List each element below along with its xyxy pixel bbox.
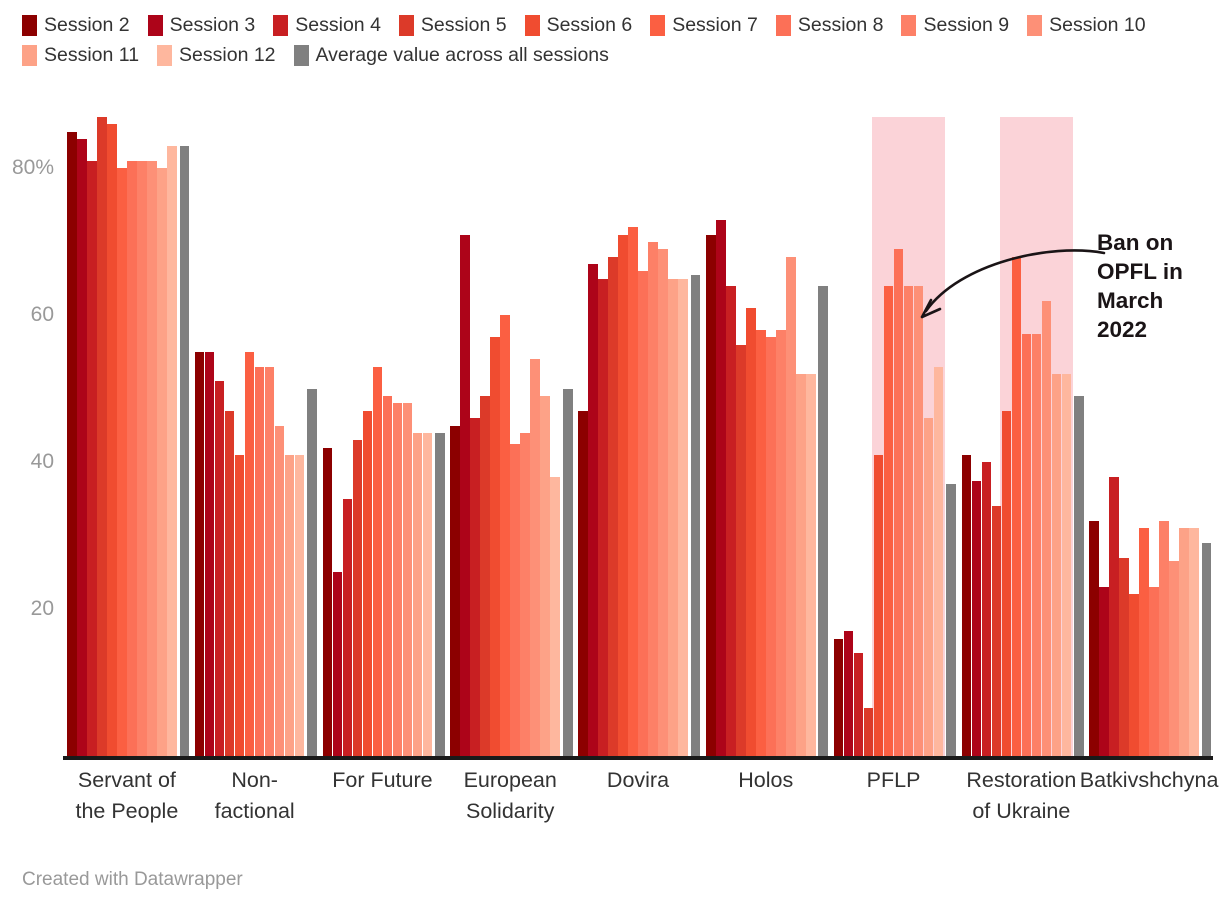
bar[interactable]: [726, 286, 736, 756]
legend-item-label: Average value across all sessions: [316, 45, 609, 66]
bar-group: [195, 95, 315, 756]
bar[interactable]: [638, 271, 648, 756]
bar-group: [1089, 95, 1209, 756]
bar[interactable]: [1099, 587, 1109, 756]
bar[interactable]: [1149, 587, 1159, 756]
legend-item[interactable]: Session 3: [148, 10, 256, 40]
bar[interactable]: [215, 381, 225, 756]
bar[interactable]: [157, 168, 167, 756]
bar[interactable]: [806, 374, 816, 756]
bar-average[interactable]: [818, 286, 828, 756]
bar[interactable]: [982, 462, 992, 756]
bar-average[interactable]: [691, 275, 701, 756]
bar[interactable]: [393, 403, 403, 756]
y-axis-tick-label: 60: [0, 303, 54, 327]
bar[interactable]: [1109, 477, 1119, 756]
legend-item[interactable]: Session 4: [273, 10, 381, 40]
bar[interactable]: [285, 455, 295, 756]
legend-item[interactable]: Session 8: [776, 10, 884, 40]
bar[interactable]: [706, 235, 716, 756]
legend-swatch-icon: [148, 15, 163, 36]
legend-swatch-icon: [399, 15, 414, 36]
bar[interactable]: [854, 653, 864, 756]
bar[interactable]: [500, 315, 510, 756]
bar[interactable]: [874, 455, 884, 756]
bar[interactable]: [550, 477, 560, 756]
legend-item[interactable]: Session 9: [901, 10, 1009, 40]
bar[interactable]: [323, 448, 333, 756]
bar-average[interactable]: [563, 389, 573, 756]
bar[interactable]: [137, 161, 147, 756]
bar[interactable]: [510, 444, 520, 756]
bar[interactable]: [450, 426, 460, 757]
bar[interactable]: [540, 396, 550, 756]
bar[interactable]: [343, 499, 353, 756]
bar[interactable]: [195, 352, 205, 756]
bar[interactable]: [1062, 374, 1072, 756]
bar[interactable]: [275, 426, 285, 757]
bar[interactable]: [373, 367, 383, 756]
x-axis-category-label: Batkivshchyna: [1071, 765, 1220, 796]
bar[interactable]: [1002, 411, 1012, 756]
bar[interactable]: [668, 279, 678, 756]
bar[interactable]: [844, 631, 854, 756]
bar[interactable]: [776, 330, 786, 756]
bar-average[interactable]: [307, 389, 317, 756]
legend-swatch-icon: [22, 15, 37, 36]
bar[interactable]: [295, 455, 305, 756]
bar[interactable]: [1159, 521, 1169, 756]
bar-group: [706, 95, 826, 756]
bar[interactable]: [884, 286, 894, 756]
bar[interactable]: [972, 481, 982, 756]
bar[interactable]: [658, 249, 668, 756]
bar[interactable]: [413, 433, 423, 756]
bar[interactable]: [1042, 301, 1052, 756]
bar[interactable]: [363, 411, 373, 756]
legend-swatch-icon: [1027, 15, 1042, 36]
bar[interactable]: [530, 359, 540, 756]
legend-swatch-icon: [273, 15, 288, 36]
bar-group: [450, 95, 570, 756]
bar-average[interactable]: [435, 433, 445, 756]
bar-group: [67, 95, 187, 756]
legend-item-label: Session 10: [1049, 15, 1145, 36]
bar[interactable]: [648, 242, 658, 756]
legend-item-label: Session 3: [170, 15, 256, 36]
legend-item[interactable]: Average value across all sessions: [294, 40, 609, 70]
bar[interactable]: [618, 235, 628, 756]
bar-average[interactable]: [946, 484, 956, 756]
bar[interactable]: [460, 235, 470, 756]
bar[interactable]: [716, 220, 726, 756]
bar[interactable]: [403, 403, 413, 756]
legend-swatch-icon: [157, 45, 172, 66]
bar[interactable]: [490, 337, 500, 756]
bar[interactable]: [924, 418, 934, 756]
bar[interactable]: [608, 257, 618, 756]
bar[interactable]: [786, 257, 796, 756]
bar[interactable]: [117, 168, 127, 756]
bar[interactable]: [756, 330, 766, 756]
bar[interactable]: [1189, 528, 1199, 756]
bar[interactable]: [205, 352, 215, 756]
bar[interactable]: [333, 572, 343, 756]
bar[interactable]: [992, 506, 1002, 756]
bar[interactable]: [1052, 374, 1062, 756]
bar[interactable]: [904, 286, 914, 756]
bar[interactable]: [588, 264, 598, 756]
bar[interactable]: [225, 411, 235, 756]
bar[interactable]: [1089, 521, 1099, 756]
bar[interactable]: [520, 433, 530, 756]
chart-legend: Session 2Session 3Session 4Session 5Sess…: [22, 10, 1202, 70]
bar[interactable]: [87, 161, 97, 756]
bar[interactable]: [962, 455, 972, 756]
bar[interactable]: [480, 396, 490, 756]
bar[interactable]: [1012, 257, 1022, 756]
bar[interactable]: [1022, 334, 1032, 756]
legend-item-label: Session 7: [672, 15, 758, 36]
plot-inner: [63, 95, 1213, 757]
bar[interactable]: [628, 227, 638, 756]
legend-item[interactable]: Session 6: [525, 10, 633, 40]
bar[interactable]: [1169, 561, 1179, 756]
bar[interactable]: [1129, 594, 1139, 756]
bar[interactable]: [77, 139, 87, 756]
bar[interactable]: [578, 411, 588, 756]
legend-item[interactable]: Session 11: [22, 40, 139, 70]
legend-item-label: Session 8: [798, 15, 884, 36]
y-axis-tick-label: 80%: [0, 156, 54, 180]
bar-group: [323, 95, 443, 756]
bar[interactable]: [97, 117, 107, 756]
legend-item-label: Session 9: [923, 15, 1009, 36]
bar[interactable]: [934, 367, 944, 756]
legend-swatch-icon: [901, 15, 916, 36]
bar[interactable]: [147, 161, 157, 756]
legend-item-label: Session 12: [179, 45, 275, 66]
legend-swatch-icon: [525, 15, 540, 36]
chart-credit: Created with Datawrapper: [22, 869, 243, 891]
bar[interactable]: [107, 124, 117, 756]
bar[interactable]: [598, 279, 608, 756]
bar[interactable]: [235, 455, 245, 756]
legend-item[interactable]: Session 7: [650, 10, 758, 40]
bar[interactable]: [796, 374, 806, 756]
legend-item-label: Session 11: [44, 45, 139, 66]
bar[interactable]: [353, 440, 363, 756]
x-axis-baseline: [63, 756, 1213, 760]
bar[interactable]: [766, 337, 776, 756]
y-axis-tick-label: 20: [0, 597, 54, 621]
y-axis-tick-label: 40: [0, 450, 54, 474]
legend-item[interactable]: Session 5: [399, 10, 507, 40]
bar[interactable]: [894, 249, 904, 756]
bar[interactable]: [127, 161, 137, 756]
bar[interactable]: [67, 132, 77, 756]
legend-item-label: Session 4: [295, 15, 381, 36]
bar-group: [962, 95, 1082, 756]
bar-average[interactable]: [1202, 543, 1212, 756]
plot-area: Ban on OPFL in March 2022 80%604020: [0, 95, 1220, 795]
bar[interactable]: [1119, 558, 1129, 756]
bar[interactable]: [736, 345, 746, 756]
legend-item-label: Session 2: [44, 15, 130, 36]
bar[interactable]: [265, 367, 275, 756]
bar[interactable]: [423, 433, 433, 756]
bar[interactable]: [746, 308, 756, 756]
bar[interactable]: [864, 708, 874, 756]
legend-item-label: Session 6: [547, 15, 633, 36]
bar[interactable]: [1032, 334, 1042, 756]
bar[interactable]: [1179, 528, 1189, 756]
annotation-label: Ban on OPFL in March 2022: [1097, 228, 1217, 344]
bar[interactable]: [255, 367, 265, 756]
legend-swatch-icon: [22, 45, 37, 66]
legend-item[interactable]: Session 10: [1027, 10, 1145, 40]
bar-group: [578, 95, 698, 756]
bar-group: [834, 95, 954, 756]
legend-item[interactable]: Session 12: [157, 40, 275, 70]
bar[interactable]: [470, 418, 480, 756]
bar-average[interactable]: [1074, 396, 1084, 756]
bar-average[interactable]: [180, 146, 190, 756]
bar[interactable]: [834, 639, 844, 757]
bar[interactable]: [167, 146, 177, 756]
bar[interactable]: [678, 279, 688, 756]
bar[interactable]: [245, 352, 255, 756]
bar[interactable]: [1139, 528, 1149, 756]
legend-item-label: Session 5: [421, 15, 507, 36]
legend-swatch-icon: [650, 15, 665, 36]
legend-swatch-icon: [776, 15, 791, 36]
bar[interactable]: [914, 286, 924, 756]
x-axis-category-labels: Servant of the PeopleNon- factionalFor F…: [63, 765, 1213, 855]
legend-item[interactable]: Session 2: [22, 10, 130, 40]
legend-swatch-icon: [294, 45, 309, 66]
bar[interactable]: [383, 396, 393, 756]
